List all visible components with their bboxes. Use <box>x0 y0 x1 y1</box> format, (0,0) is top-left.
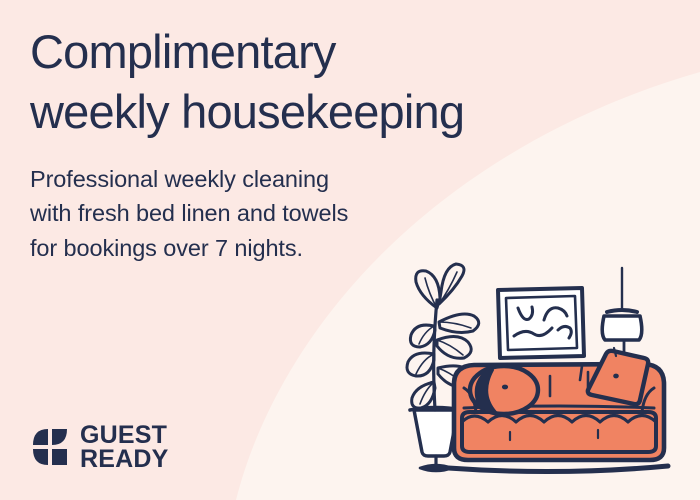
subtitle-text: Professional weekly cleaning with fresh … <box>30 162 460 265</box>
promo-card: Complimentary weekly housekeeping Profes… <box>0 0 700 500</box>
brand-name-line2: READY <box>80 447 169 471</box>
living-room-illustration <box>392 262 700 500</box>
brand-name-line1: GUEST <box>80 423 169 447</box>
brand-wordmark: GUEST READY <box>80 423 169 471</box>
guestready-logo-icon <box>31 427 69 467</box>
page-title: Complimentary weekly housekeeping <box>30 22 630 141</box>
brand-logo: GUEST READY <box>31 423 169 471</box>
